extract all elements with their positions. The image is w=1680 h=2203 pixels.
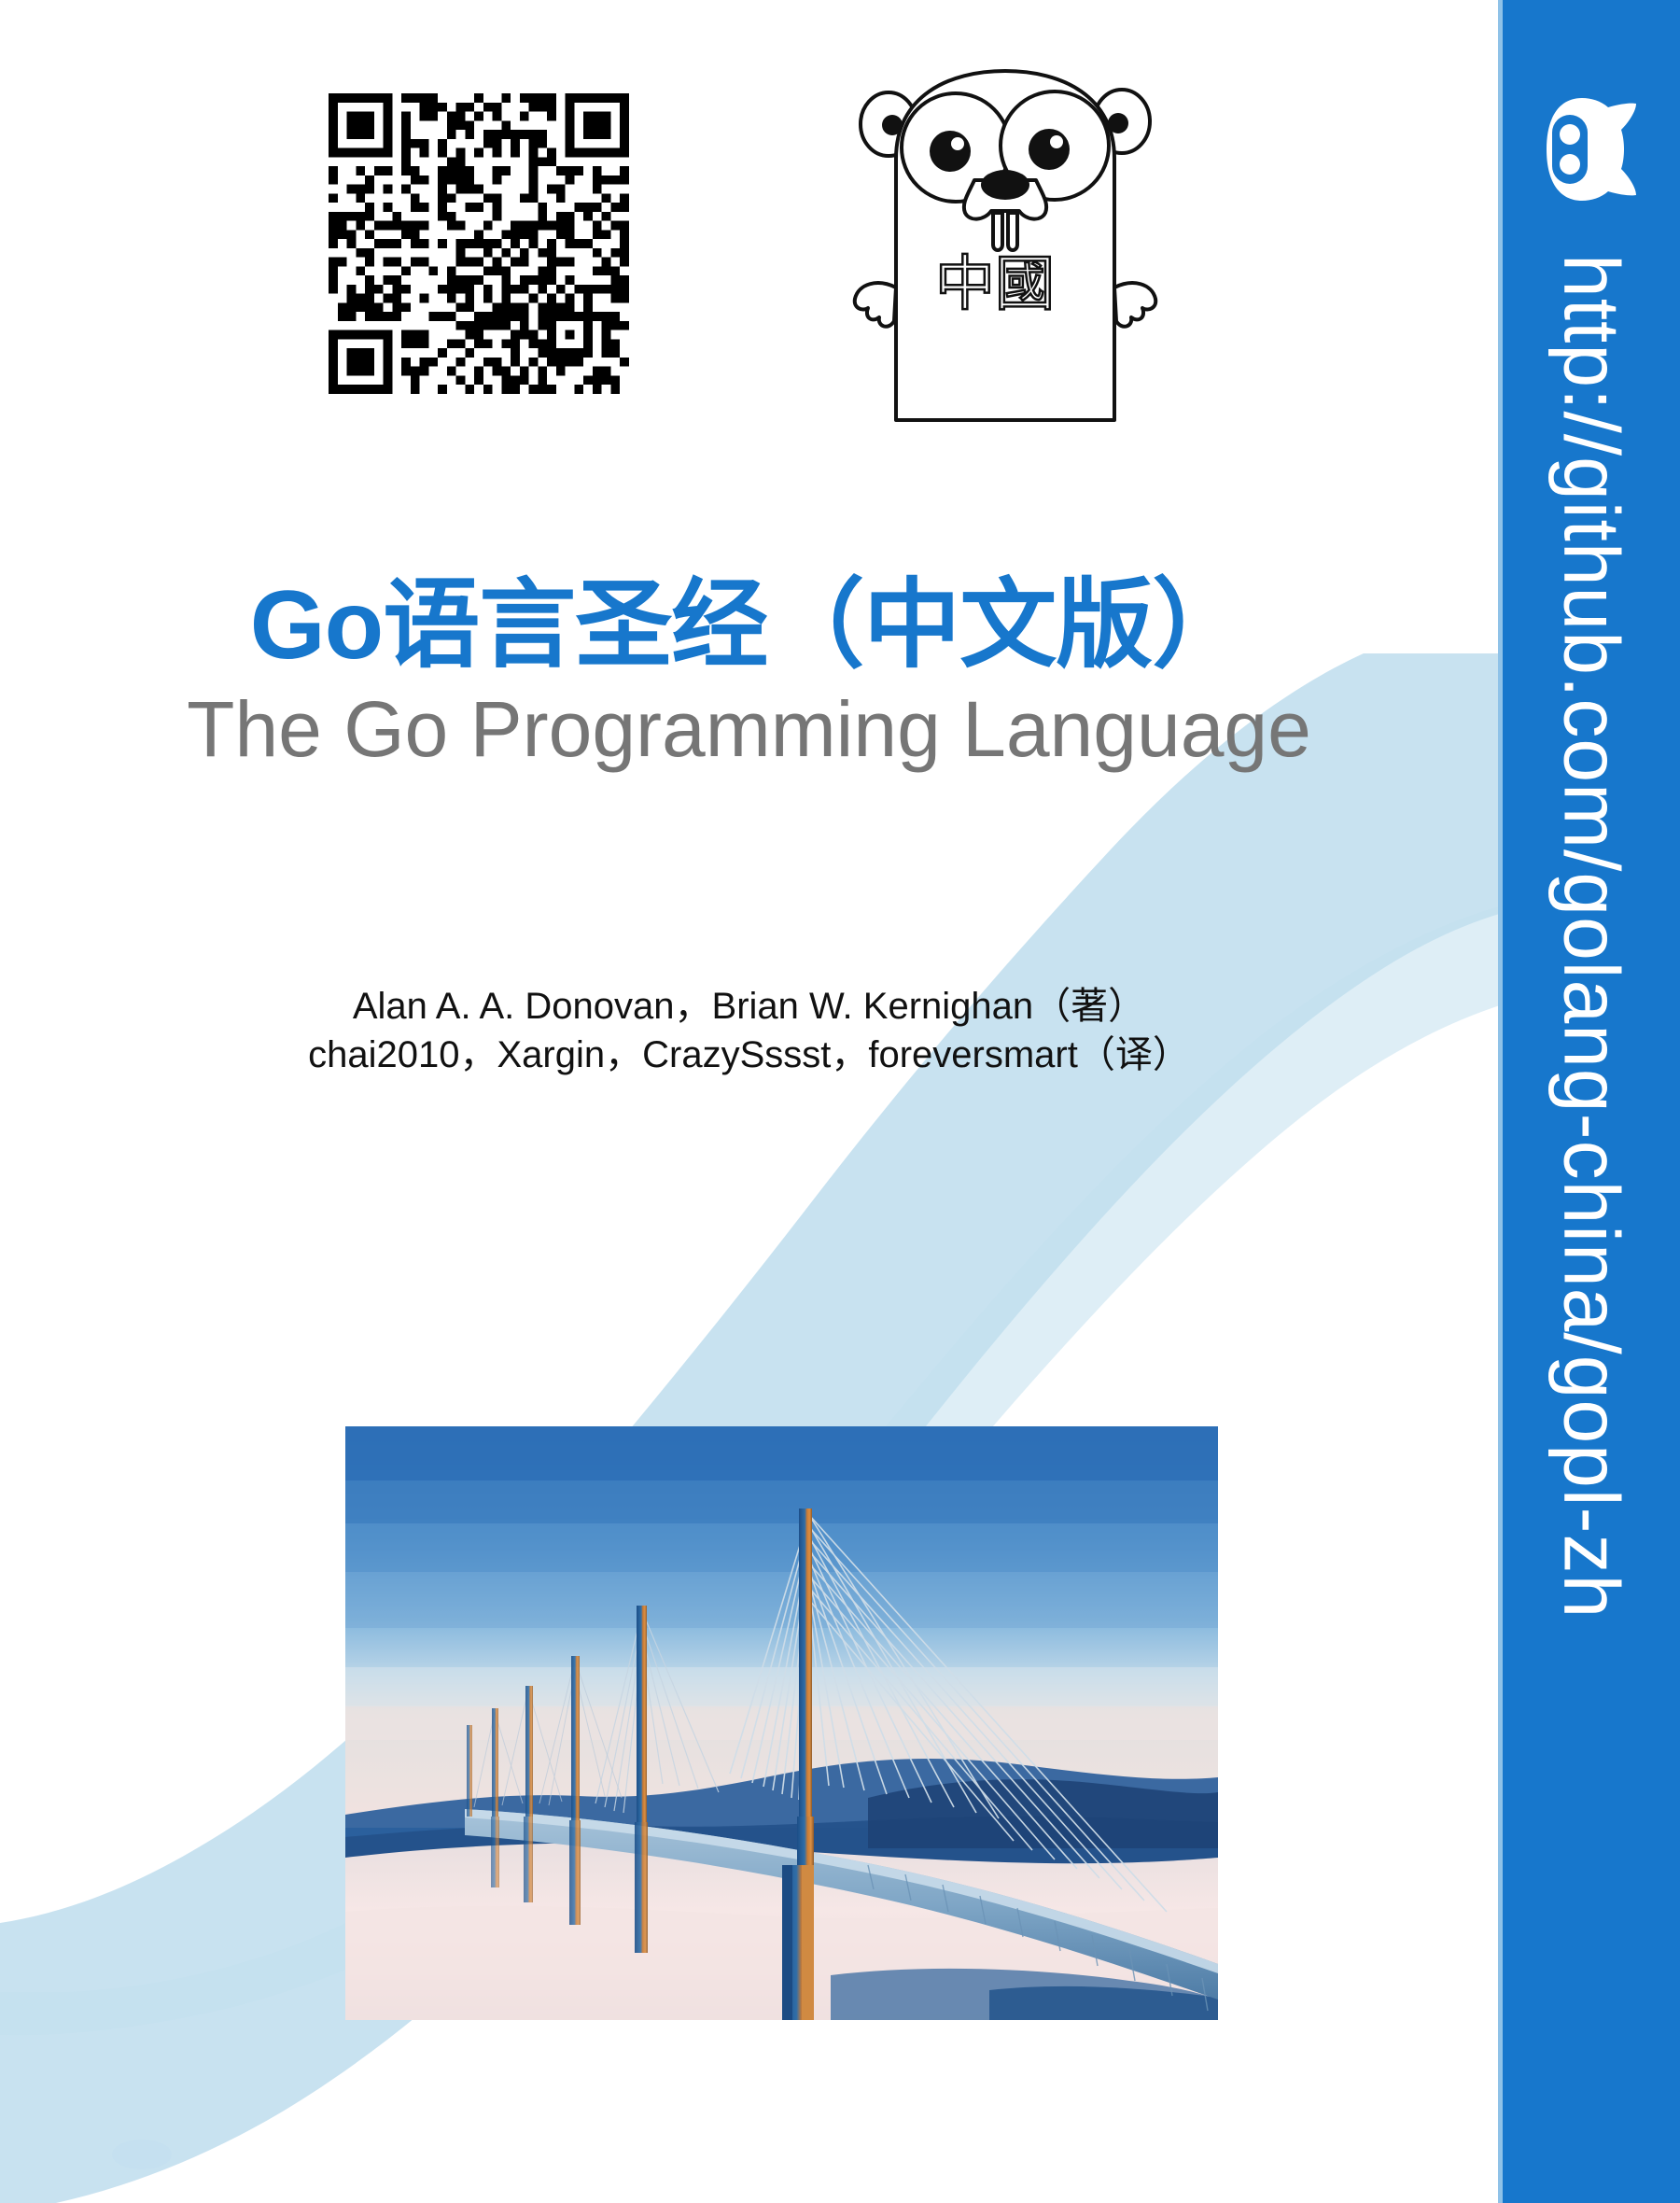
github-url-label[interactable]: http://github.com/golang-china/gopl-zh [1547,254,1637,1619]
github-octocat-icon [1543,94,1640,204]
github-url-sidebar[interactable]: http://github.com/golang-china/gopl-zh [1498,0,1680,2203]
original-authors-line: Alan A. A. Donovan，Brian W. Kernighan（著） [0,982,1498,1031]
gopher-belly-text: 中國 [935,250,1055,319]
page-subtitle: The Go Programming Language [0,685,1498,773]
book-cover: 中國 Go语言圣经（中文版） The Go Programming Langua… [0,0,1680,2203]
translators-line: chai2010，Xargin，CrazySssst，foreversmart（… [0,1031,1498,1079]
authors-block: Alan A. A. Donovan，Brian W. Kernighan（著）… [0,982,1498,1079]
millau-viaduct-bridge-photo [345,1426,1218,2020]
page-title: Go语言圣经（中文版） [0,571,1498,680]
qr-code-canvas [329,93,629,394]
title-block: Go语言圣经（中文版） The Go Programming Language [0,571,1498,774]
go-gopher-icon: 中國 [851,54,1159,428]
qr-code-icon[interactable] [329,93,629,394]
